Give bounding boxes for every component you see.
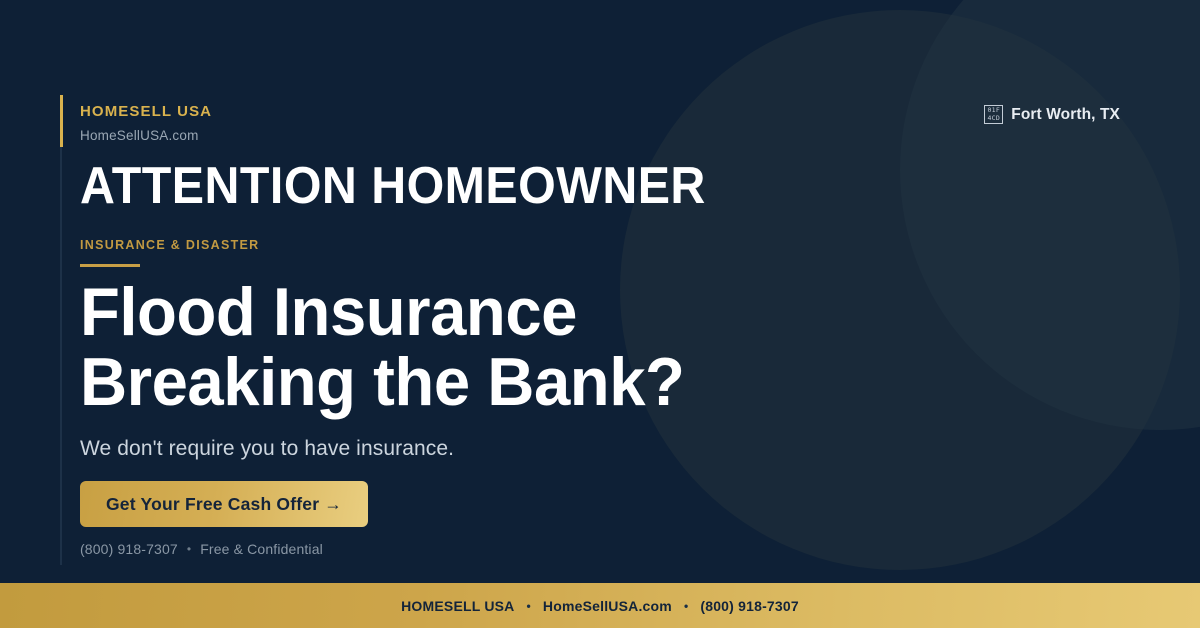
brand-block: HOMESELL USA HomeSellUSA.com: [80, 104, 212, 143]
contact-note: Free & Confidential: [200, 541, 323, 557]
footer-separator-dot-2: •: [684, 599, 688, 613]
main-headline-line-2: Breaking the Bank?: [80, 347, 684, 417]
main-headline: Flood Insurance Breaking the Bank?: [80, 277, 684, 417]
footer-website[interactable]: HomeSellUSA.com: [543, 598, 672, 614]
brand-website: HomeSellUSA.com: [80, 128, 212, 143]
footer-bar: HOMESELL USA • HomeSellUSA.com • (800) 9…: [0, 583, 1200, 628]
attention-headline: ATTENTION HOMEOWNER: [80, 160, 706, 212]
footer-phone[interactable]: (800) 918-7307: [700, 598, 799, 614]
contact-line: (800) 918-7307 • Free & Confidential: [80, 541, 323, 557]
contact-phone[interactable]: (800) 918-7307: [80, 541, 178, 557]
footer-brand: HOMESELL USA: [401, 598, 514, 614]
footer-separator-dot-1: •: [526, 599, 530, 613]
subheadline: We don't require you to have insurance.: [80, 437, 454, 461]
left-rail-gold-accent: [60, 95, 63, 147]
ad-banner: HOMESELL USA HomeSellUSA.com 01F 4CD For…: [0, 0, 1200, 628]
location-pin-icon-codepoint-bottom: 4CD: [987, 115, 1000, 123]
main-headline-line-1: Flood Insurance: [80, 277, 684, 347]
get-free-cash-offer-button[interactable]: Get Your Free Cash Offer →: [80, 481, 368, 527]
location-pin-icon: 01F 4CD: [984, 105, 1003, 124]
location-label: Fort Worth, TX: [1011, 106, 1120, 124]
location-badge: 01F 4CD Fort Worth, TX: [984, 105, 1120, 124]
left-rail-line: [60, 95, 62, 565]
eyebrow-underline-rule: [80, 264, 140, 267]
brand-row: HOMESELL USA HomeSellUSA.com 01F 4CD For…: [80, 104, 1120, 143]
contact-separator-dot: •: [187, 542, 191, 556]
category-eyebrow: INSURANCE & DISASTER: [80, 238, 260, 252]
brand-name: HOMESELL USA: [80, 104, 212, 121]
